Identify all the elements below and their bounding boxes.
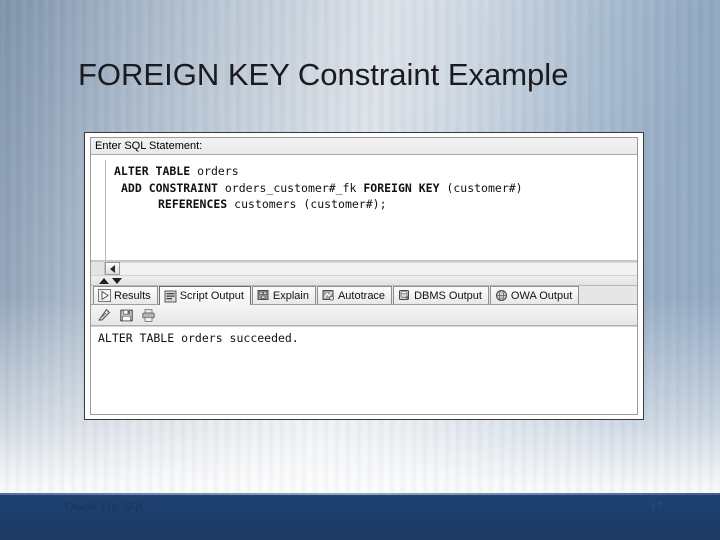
autotrace-icon — [322, 289, 335, 302]
tab-label: OWA Output — [511, 290, 572, 302]
slide-canvas: FOREIGN KEY Constraint Example Enter SQL… — [0, 0, 720, 540]
script-output-text: ALTER TABLE orders succeeded. — [98, 331, 637, 346]
tab-label: Results — [114, 290, 151, 302]
tab-autotrace[interactable]: Autotrace — [317, 286, 392, 304]
tab-label: DBMS Output — [414, 290, 482, 302]
enter-sql-statement-label: Enter SQL Statement: — [91, 138, 637, 155]
tab-dbms-output[interactable]: DBMS Output — [393, 286, 489, 304]
tab-label: Explain — [273, 290, 309, 302]
footer-page-number: 17 — [650, 499, 662, 514]
collapse-down-icon[interactable] — [112, 278, 122, 284]
sql-editor-area[interactable]: ALTER TABLE orders ADD CONSTRAINT orders… — [91, 155, 637, 261]
dbms-output-icon — [398, 289, 411, 302]
output-tabstrip[interactable]: Results Script Output — [91, 286, 637, 305]
scrollbar-track[interactable] — [120, 262, 637, 275]
triangle-left-icon — [110, 265, 115, 273]
owa-globe-icon — [495, 289, 508, 302]
footer-course-label: Oracle 11g: SQL — [65, 499, 147, 514]
tab-label: Script Output — [180, 290, 244, 302]
slide-footer-bar: Oracle 11g: SQL 17 — [0, 493, 720, 540]
explain-plan-icon — [257, 289, 270, 302]
sql-developer-screenshot: Enter SQL Statement: ALTER TABLE orders … — [84, 132, 644, 420]
worksheet-panel: Enter SQL Statement: ALTER TABLE orders … — [90, 137, 638, 415]
tab-label: Autotrace — [338, 290, 385, 302]
script-output-pane[interactable]: ALTER TABLE orders succeeded. — [91, 326, 637, 414]
sql-code-line: ALTER TABLE orders — [114, 163, 635, 180]
collapse-up-icon[interactable] — [99, 278, 109, 284]
script-output-icon — [164, 290, 177, 303]
sql-editor-text[interactable]: ALTER TABLE orders ADD CONSTRAINT orders… — [105, 160, 635, 260]
scroll-left-button[interactable] — [105, 262, 120, 275]
print-icon[interactable] — [141, 308, 156, 323]
tab-owa-output[interactable]: OWA Output — [490, 286, 579, 304]
play-triangle-icon — [98, 289, 111, 302]
tab-explain[interactable]: Explain — [252, 286, 316, 304]
page-title: FOREIGN KEY Constraint Example — [78, 56, 678, 94]
clear-eraser-icon[interactable] — [97, 308, 112, 323]
sql-code-line: REFERENCES customers (customer#); — [114, 196, 635, 213]
output-toolbar[interactable] — [91, 305, 637, 326]
panel-splitter[interactable] — [91, 275, 637, 286]
sql-code-line: ADD CONSTRAINT orders_customer#_fk FOREI… — [114, 180, 635, 197]
scrollbar-gutter — [91, 262, 105, 275]
editor-horizontal-scrollbar[interactable] — [91, 261, 637, 275]
tab-script-output[interactable]: Script Output — [159, 286, 251, 305]
footer-highlight-line — [0, 493, 720, 495]
tab-results[interactable]: Results — [93, 286, 158, 304]
save-floppy-icon[interactable] — [119, 308, 134, 323]
